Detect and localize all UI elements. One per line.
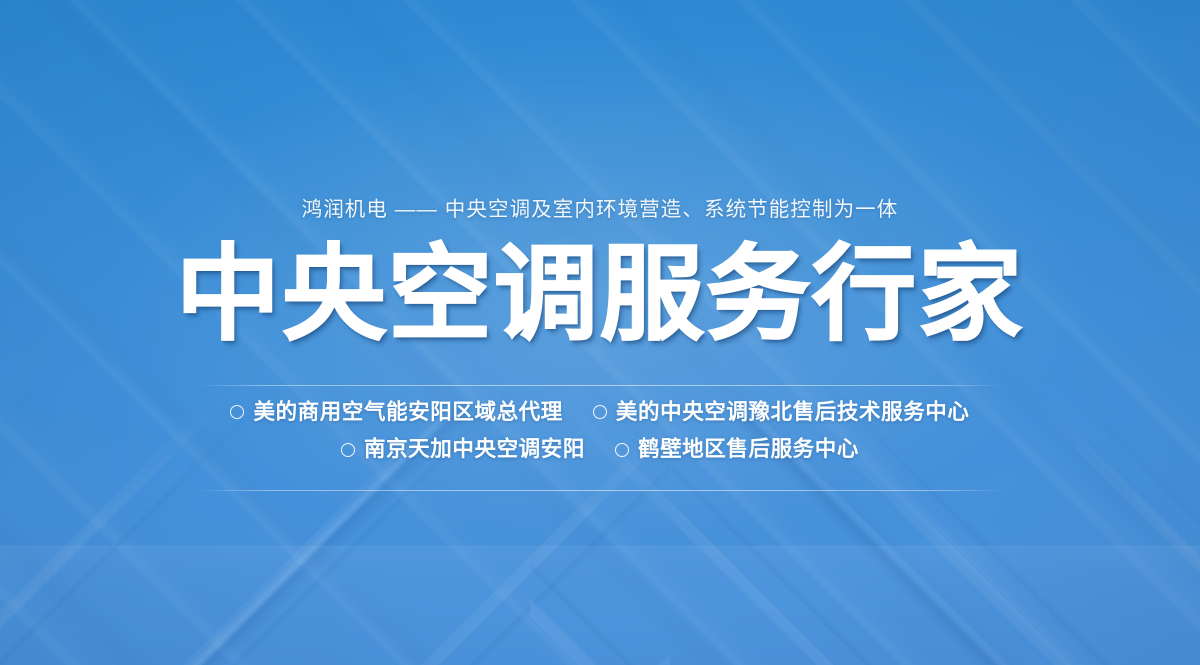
tagline-item[interactable]: 美的商用空气能安阳区域总代理 — [230, 402, 562, 424]
tagline-label: 美的商用空气能安阳区域总代理 — [253, 402, 562, 424]
hollow-circle-icon — [615, 443, 629, 457]
promo-banner: 鸿润机电 —— 中央空调及室内环境营造、系统节能控制为一体 中央空调服务行家 美… — [0, 0, 1200, 665]
tagline-label: 南京天加中央空调安阳 — [364, 439, 585, 461]
hollow-circle-icon — [230, 405, 244, 419]
banner-content: 鸿润机电 —— 中央空调及室内环境营造、系统节能控制为一体 中央空调服务行家 美… — [0, 0, 1200, 665]
tagline-row-2: 南京天加中央空调安阳 鹤壁地区售后服务中心 — [341, 439, 859, 461]
divider-bottom — [195, 490, 1005, 491]
tagline-item[interactable]: 南京天加中央空调安阳 — [341, 439, 585, 461]
tagline-item[interactable]: 鹤壁地区售后服务中心 — [615, 439, 859, 461]
tagline-label: 鹤壁地区售后服务中心 — [638, 439, 859, 461]
tagline-row-1: 美的商用空气能安阳区域总代理 美的中央空调豫北售后技术服务中心 — [230, 402, 969, 424]
divider-top — [195, 385, 1005, 386]
banner-subtitle: 鸿润机电 —— 中央空调及室内环境营造、系统节能控制为一体 — [302, 200, 899, 221]
hollow-circle-icon — [341, 443, 355, 457]
banner-headline: 中央空调服务行家 — [176, 243, 1024, 347]
tagline-label: 美的中央空调豫北售后技术服务中心 — [616, 402, 970, 424]
hollow-circle-icon — [593, 405, 607, 419]
tagline-group: 美的商用空气能安阳区域总代理 美的中央空调豫北售后技术服务中心 南京天加中央空调… — [230, 402, 969, 461]
tagline-item[interactable]: 美的中央空调豫北售后技术服务中心 — [593, 402, 970, 424]
